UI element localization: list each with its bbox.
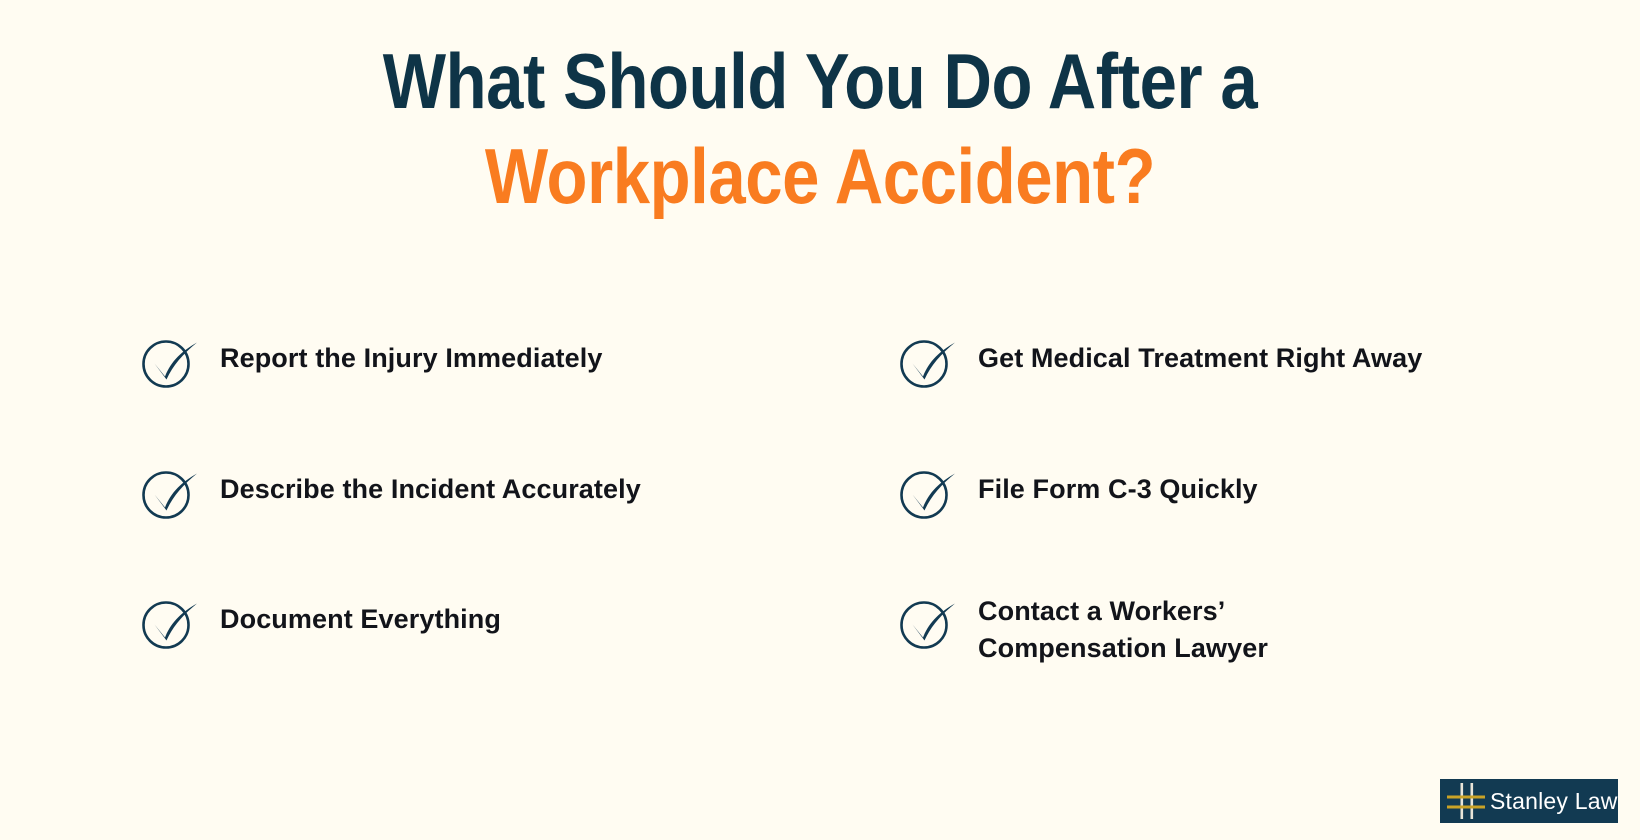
page-title: What Should You Do After a Workplace Acc…	[0, 34, 1640, 224]
circle-check-icon	[898, 465, 960, 521]
circle-check-icon	[140, 595, 202, 651]
list-item-label: Document Everything	[220, 593, 501, 638]
list-item-label: Report the Injury Immediately	[220, 332, 602, 377]
circle-check-icon	[898, 595, 960, 651]
title-line-primary: What Should You Do After a	[115, 34, 1525, 129]
hash-mark-icon	[1446, 781, 1486, 821]
brand-logo-text: Stanley Law	[1490, 788, 1618, 815]
checklist: Report the Injury Immediately Describe t…	[0, 332, 1640, 712]
circle-check-icon	[140, 465, 202, 521]
list-item-label: Get Medical Treatment Right Away	[978, 332, 1422, 377]
list-item: Report the Injury Immediately	[140, 332, 840, 388]
infographic-slide: What Should You Do After a Workplace Acc…	[0, 0, 1640, 840]
circle-check-icon	[140, 334, 202, 390]
list-item: Get Medical Treatment Right Away	[898, 332, 1598, 388]
list-item: Contact a Workers’ Compensation Lawyer	[898, 593, 1598, 667]
title-line-highlight: Workplace Accident?	[115, 129, 1525, 224]
list-item: Document Everything	[140, 593, 840, 649]
list-item: Describe the Incident Accurately	[140, 463, 840, 519]
list-item-label: Contact a Workers’ Compensation Lawyer	[978, 593, 1268, 667]
list-item-label: File Form C-3 Quickly	[978, 463, 1258, 508]
list-item-label: Describe the Incident Accurately	[220, 463, 641, 508]
brand-logo: Stanley Law	[1440, 779, 1618, 823]
list-item: File Form C-3 Quickly	[898, 463, 1598, 519]
circle-check-icon	[898, 334, 960, 390]
